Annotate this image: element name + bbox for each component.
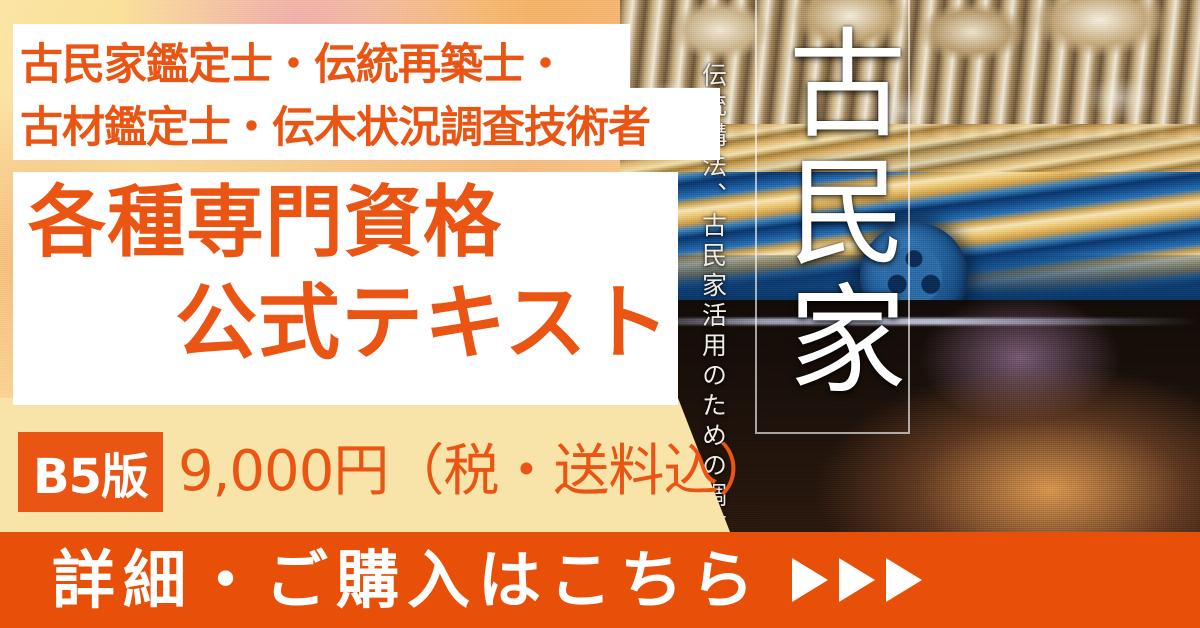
triangle-right-icon — [792, 558, 828, 602]
headline-line2: 公式テキスト — [175, 283, 671, 365]
price-text: 9,000円（税・送料込） — [178, 437, 773, 507]
size-badge: B5版 — [18, 432, 163, 512]
triangle-right-icon — [886, 558, 922, 602]
qualification-line2-text: 古材鑑定士・伝木状況調査技術者 — [20, 93, 650, 155]
qualification-line1-text: 古民家鑑定士・伝統再築士・ — [20, 30, 566, 92]
cta-label: 詳細・ご購入はこちら — [52, 549, 762, 612]
triangle-right-icon — [839, 558, 875, 602]
headline-line1: 各種専門資格 — [28, 184, 502, 262]
book-cover-title: 古民家 — [758, 4, 908, 424]
cta-arrow-group — [792, 558, 922, 602]
promo-banner: 古民家 伝統構法、古民家活用のための調査と再生の 古民家鑑定士・伝統再築士・ 古… — [0, 0, 1200, 628]
cta-bar[interactable]: 詳細・ご購入はこちら — [0, 532, 1200, 628]
